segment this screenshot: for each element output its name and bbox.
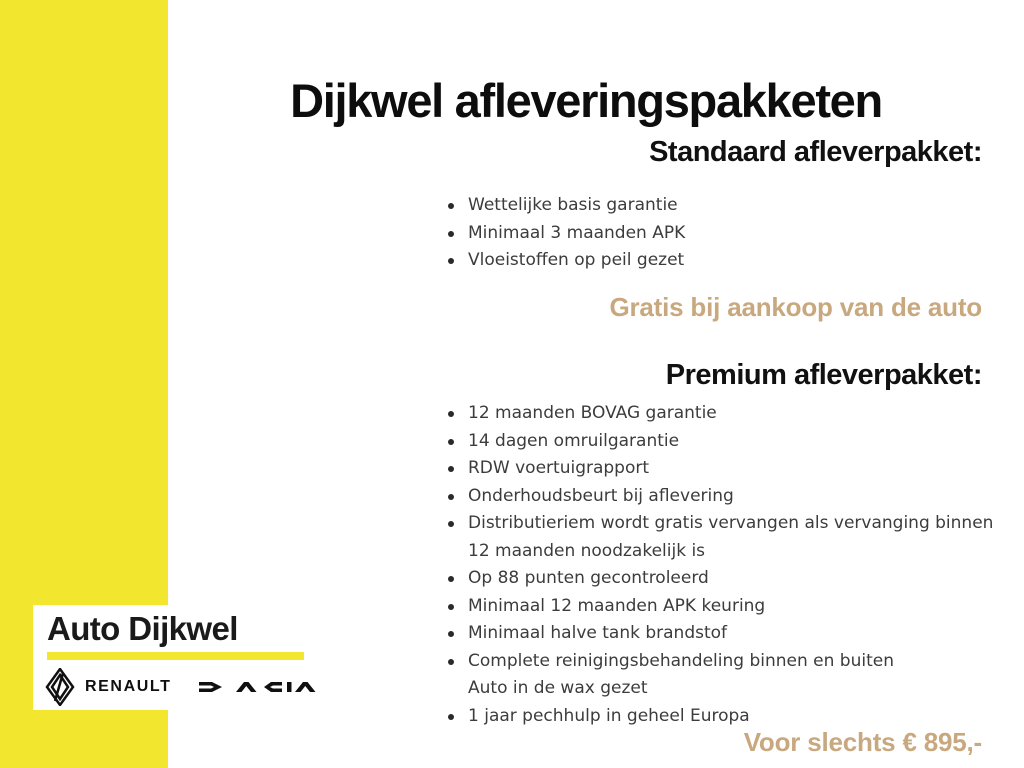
list-item: Onderhoudsbeurt bij aflevering [442, 483, 998, 511]
list-item: Minimaal halve tank brandstof [442, 620, 998, 648]
renault-diamond-icon [45, 668, 75, 706]
list-item-line-2: Auto in de wax gezet [468, 675, 998, 703]
list-item: 14 dagen omruilgarantie [442, 428, 998, 456]
list-item: 12 maanden BOVAG garantie [442, 400, 998, 428]
list-item: 1 jaar pechhulp in geheel Europa [442, 703, 998, 731]
premium-package-price: Voor slechts € 895,- [744, 727, 982, 758]
page-title: Dijkwel afleveringspakketen [168, 73, 1004, 128]
content-column: Dijkwel afleveringspakketen Standaard af… [168, 0, 1024, 768]
list-item: Wettelijke basis garantie [442, 192, 685, 220]
slide-canvas: Auto Dijkwel RENAULT [0, 0, 1024, 768]
premium-package-heading: Premium afleverpakket: [666, 359, 982, 392]
list-item: RDW voertuigrapport [442, 455, 998, 483]
list-item: Minimaal 12 maanden APK keuring [442, 593, 998, 621]
list-item: Distributieriem wordt gratis vervangen a… [442, 510, 998, 565]
list-item: Minimaal 3 maanden APK [442, 220, 685, 248]
list-item: Vloeistoffen op peil gezet [442, 247, 685, 275]
list-item: Op 88 punten gecontroleerd [442, 565, 998, 593]
list-item: Complete reinigingsbehandeling binnen en… [442, 648, 998, 703]
renault-label: RENAULT [85, 678, 171, 696]
premium-package-list: 12 maanden BOVAG garantie 14 dagen omrui… [442, 400, 998, 730]
standard-package-heading: Standaard afleverpakket: [649, 136, 982, 169]
standard-package-note: Gratis bij aankoop van de auto [609, 292, 982, 323]
standard-package-list: Wettelijke basis garantie Minimaal 3 maa… [442, 192, 685, 275]
list-item-line-1: Complete reinigingsbehandeling binnen en… [468, 651, 894, 671]
